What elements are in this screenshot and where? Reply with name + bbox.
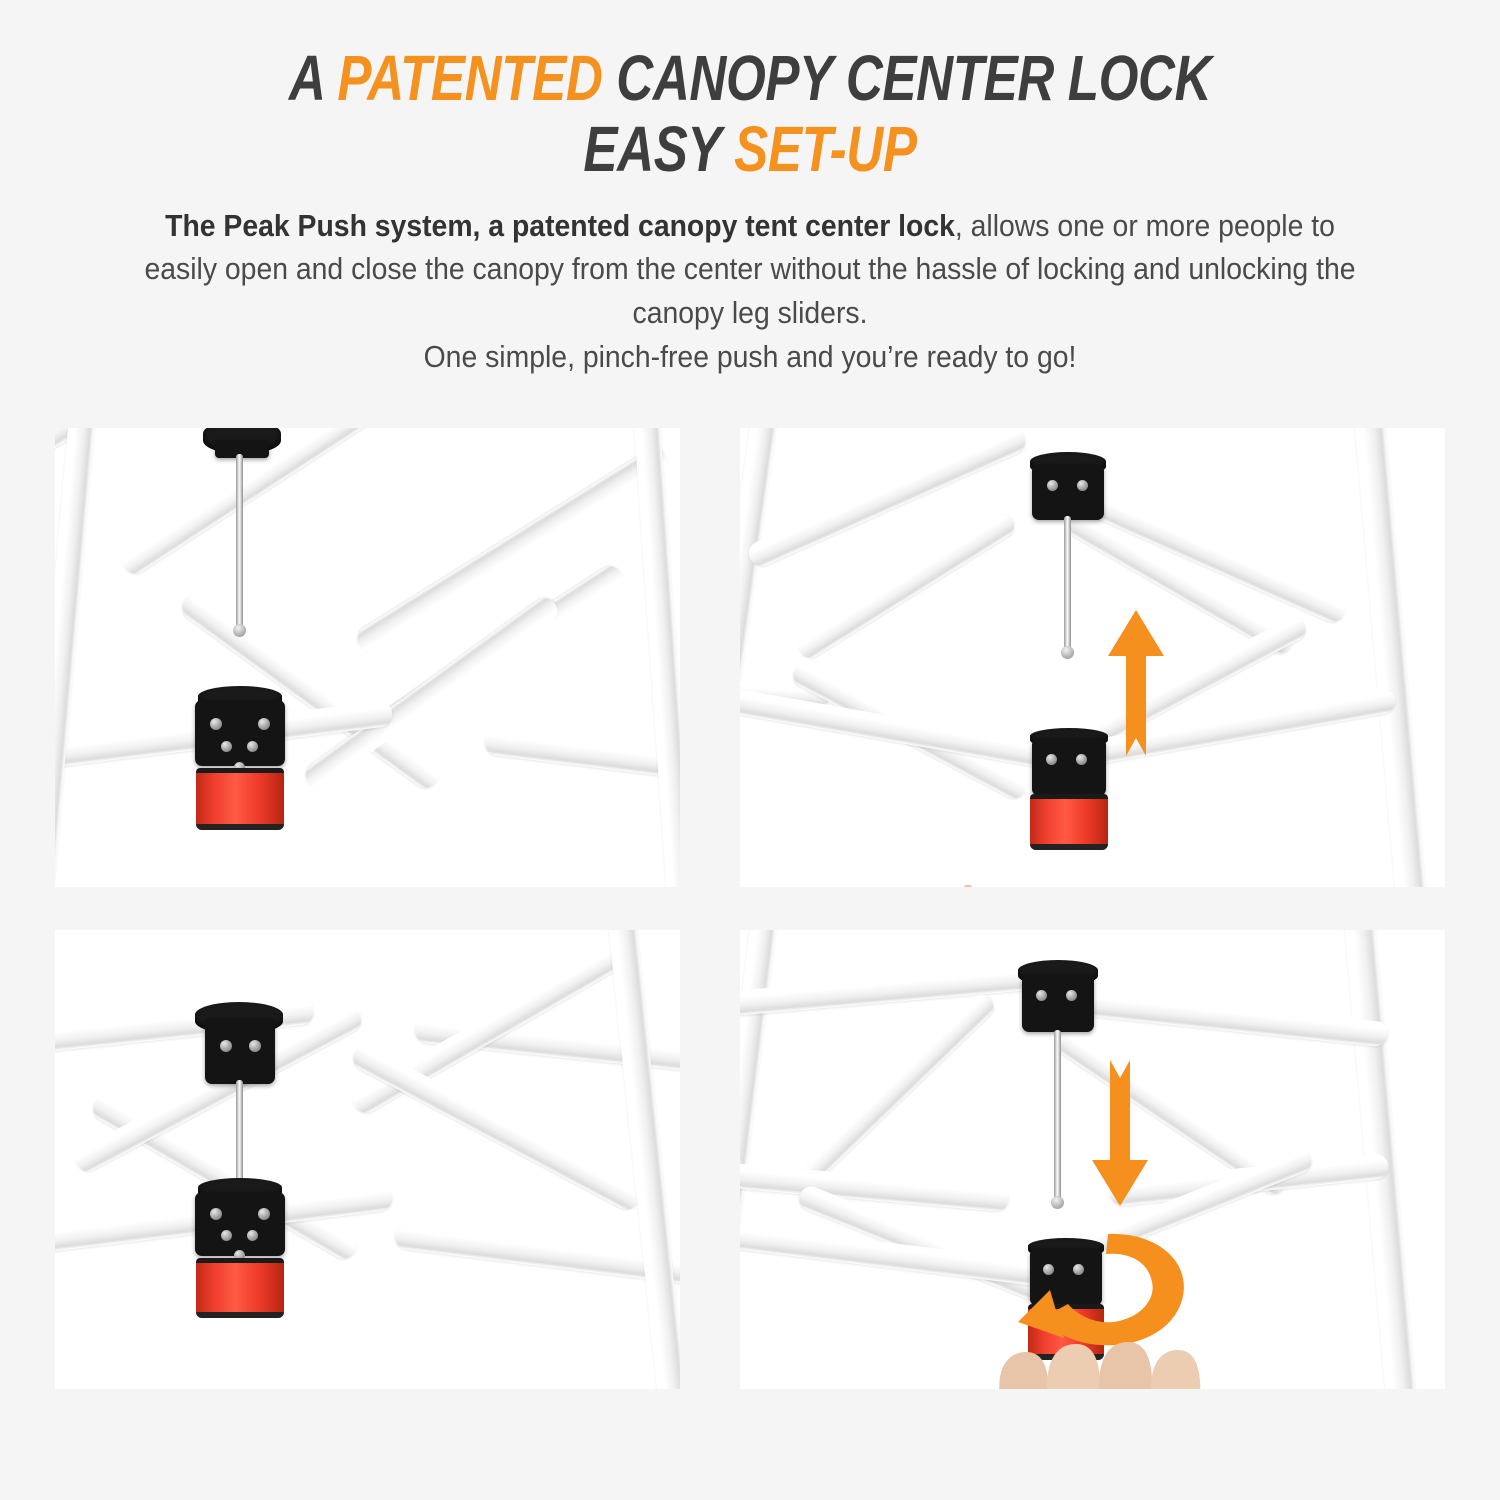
- hub-rivet: [1066, 990, 1077, 1001]
- hub-rivet: [1036, 990, 1047, 1001]
- title-accent-patented: PATENTED: [337, 42, 602, 114]
- hub-rivet: [247, 1230, 258, 1241]
- truss-tube: [1059, 988, 1390, 1047]
- push-rod: [236, 1080, 243, 1190]
- red-center-lock: [196, 768, 284, 830]
- canopy-frame-illustration: [55, 930, 680, 1389]
- leg-tube: [740, 428, 780, 798]
- truss-tube: [301, 593, 562, 792]
- truss-tube: [349, 946, 621, 1118]
- hub-rivet: [220, 1040, 232, 1052]
- push-rod: [1064, 516, 1071, 651]
- title-line-1: A PATENTED CANOPY CENTER LOCK: [150, 46, 1350, 111]
- truss-tube: [740, 964, 1040, 1017]
- hub-rivet: [210, 718, 222, 730]
- push-rod-tip: [1051, 1196, 1064, 1209]
- canopy-frame-illustration: [740, 930, 1445, 1389]
- hand-twisting: [990, 1328, 1210, 1389]
- push-rod-tip: [1061, 646, 1074, 659]
- hub-rivet: [258, 718, 270, 730]
- canopy-frame-illustration: [740, 428, 1445, 887]
- hub-rivet: [258, 1208, 270, 1220]
- panel-grid: [0, 428, 1500, 1438]
- panel-push-up: [740, 428, 1445, 887]
- truss-tube: [349, 1041, 643, 1213]
- push-rod-tip: [233, 624, 246, 637]
- intro-closing: One simple, pinch-free push and you’re r…: [136, 336, 1364, 380]
- hub-rivet: [1047, 480, 1058, 491]
- truss-tube: [740, 686, 1057, 770]
- hub-rivet: [1076, 754, 1087, 765]
- peak-hub-body: [205, 1018, 275, 1084]
- panel-unlocked-extended: [55, 428, 680, 887]
- push-rod: [236, 454, 243, 629]
- hub-rivet: [249, 1040, 261, 1052]
- leg-tube: [605, 930, 680, 1389]
- leg-tube: [633, 428, 680, 887]
- panel-twist-down: [740, 930, 1445, 1389]
- title-line-2-prefix: EASY: [583, 113, 734, 185]
- peak-hub-body: [1022, 974, 1094, 1032]
- leg-tube: [1353, 428, 1428, 887]
- hub-rivet: [247, 741, 258, 752]
- infographic-page: A PATENTED CANOPY CENTER LOCK EASY SET-U…: [0, 0, 1500, 1500]
- hub-rivet: [1046, 754, 1057, 765]
- arrow-down-icon: [1092, 1058, 1148, 1206]
- title-line-2: EASY SET-UP: [150, 117, 1350, 182]
- canopy-frame-illustration: [55, 428, 680, 887]
- arrow-up-icon: [1108, 610, 1164, 756]
- title-line-1-prefix: A: [289, 42, 338, 114]
- leg-tube: [55, 428, 96, 887]
- peak-hub-body: [1032, 464, 1104, 520]
- truss-tube: [483, 728, 680, 784]
- hub-rivet: [221, 1230, 232, 1241]
- hub-rivet: [221, 741, 232, 752]
- intro-paragraph: The Peak Push system, a patented canopy …: [136, 205, 1364, 381]
- hand-pushing-up: [958, 832, 1428, 887]
- truss-tube: [393, 1222, 680, 1288]
- center-lock-hub: [195, 1192, 285, 1256]
- truss-tube: [740, 1162, 1010, 1212]
- hub-rivet: [210, 1208, 222, 1220]
- title-accent-setup: SET-UP: [734, 113, 917, 185]
- center-lock-hub: [195, 700, 285, 766]
- intro-bold-lead: The Peak Push system, a patented canopy …: [165, 209, 955, 243]
- hub-rivet: [1077, 480, 1088, 491]
- center-lock-hub: [1032, 738, 1106, 796]
- push-rod: [1054, 1030, 1061, 1202]
- title-line-1-suffix: CANOPY CENTER LOCK: [602, 42, 1211, 114]
- truss-tube: [802, 990, 999, 1181]
- page-title: A PATENTED CANOPY CENTER LOCK EASY SET-U…: [0, 0, 1500, 183]
- panel-locked-closed: [55, 930, 680, 1389]
- red-center-lock: [196, 1258, 284, 1318]
